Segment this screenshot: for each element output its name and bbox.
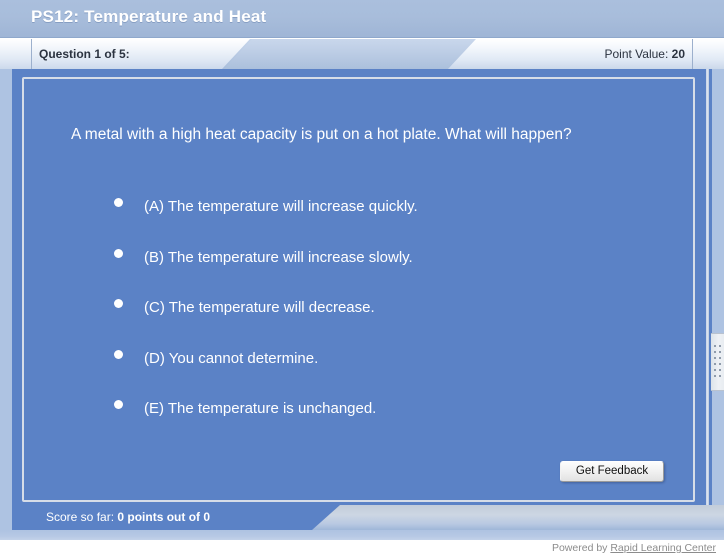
- brand-link[interactable]: Rapid Learning Center: [610, 542, 716, 554]
- answer-choice-label: (A) The temperature will increase quickl…: [144, 198, 418, 215]
- content-panel-frame: A metal with a high heat capacity is put…: [0, 69, 724, 534]
- ribbon-divider-left: [31, 39, 32, 69]
- question-counter: Question 1 of 5:: [39, 47, 130, 61]
- answer-choice-label: (E) The temperature is unchanged.: [144, 400, 376, 417]
- footer-credit: Powered by Rapid Learning Center: [552, 542, 716, 554]
- answer-choice-e[interactable]: (E) The temperature is unchanged.: [104, 391, 664, 442]
- get-feedback-button[interactable]: Get Feedback: [560, 461, 664, 482]
- content-panel: A metal with a high heat capacity is put…: [12, 69, 712, 530]
- grip-dots: [714, 345, 724, 381]
- score-label: Score so far:: [46, 510, 114, 524]
- footer: Powered by Rapid Learning Center: [0, 540, 724, 558]
- answer-choice-label: (B) The temperature will increase slowly…: [144, 249, 413, 266]
- answer-choice-d[interactable]: (D) You cannot determine.: [104, 341, 664, 392]
- title-bar: PS12: Temperature and Heat: [0, 0, 724, 38]
- point-value: Point Value: 20: [604, 47, 685, 61]
- powered-by-label: Powered by: [552, 542, 607, 554]
- bullet-icon: [114, 400, 123, 409]
- scroll-rail[interactable]: [706, 69, 709, 530]
- status-bar: Score so far: 0 points out of 0: [24, 505, 724, 530]
- score-value: 0 points out of 0: [117, 510, 210, 524]
- answer-choice-a[interactable]: (A) The temperature will increase quickl…: [104, 189, 664, 240]
- question-stem: A metal with a high heat capacity is put…: [71, 123, 616, 147]
- drag-grip-icon[interactable]: [711, 333, 724, 391]
- point-value-label: Point Value:: [604, 47, 668, 61]
- ribbon-divider-right: [692, 39, 693, 69]
- bullet-icon: [114, 299, 123, 308]
- page-title: PS12: Temperature and Heat: [31, 7, 266, 27]
- answer-choice-label: (C) The temperature will decrease.: [144, 299, 375, 316]
- answer-choice-c[interactable]: (C) The temperature will decrease.: [104, 290, 664, 341]
- question-card: A metal with a high heat capacity is put…: [22, 77, 695, 502]
- question-ribbon: Question 1 of 5: Point Value: 20: [0, 39, 724, 69]
- quiz-application: PS12: Temperature and Heat Question 1 of…: [0, 0, 724, 558]
- answer-choice-list: (A) The temperature will increase quickl…: [104, 189, 664, 442]
- score-status: Score so far: 0 points out of 0: [46, 510, 210, 524]
- bullet-icon: [114, 350, 123, 359]
- frame-base-strip: [0, 530, 724, 540]
- bullet-icon: [114, 249, 123, 258]
- bullet-icon: [114, 198, 123, 207]
- answer-choice-label: (D) You cannot determine.: [144, 350, 318, 367]
- answer-choice-b[interactable]: (B) The temperature will increase slowly…: [104, 240, 664, 291]
- point-value-number: 20: [672, 47, 685, 61]
